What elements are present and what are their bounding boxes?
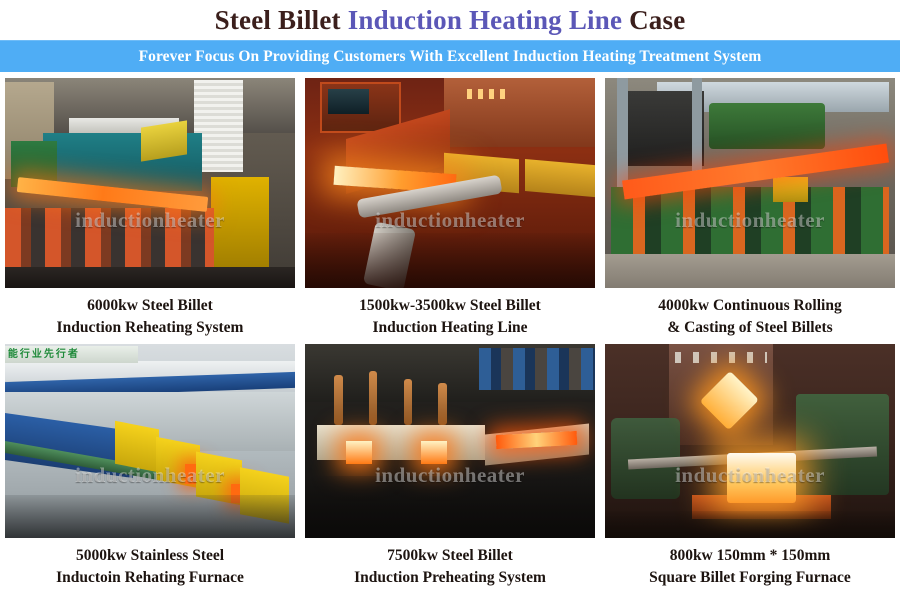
caption-line-1: 800kw 150mm * 150mm	[670, 547, 831, 564]
caption-line-2: Induction Heating Line	[359, 317, 541, 339]
gallery-item-4[interactable]: 能行业先行者 inductionheater 5000kw Stainless …	[0, 340, 300, 600]
caption-line-1: 5000kw Stainless Steel	[76, 547, 224, 564]
case-caption-5: 7500kw Steel Billet Induction Preheating…	[354, 539, 546, 590]
caption-line-1: 7500kw Steel Billet	[387, 547, 513, 564]
photo-scene-reheating-mill	[5, 78, 295, 288]
case-caption-3: 4000kw Continuous Rolling & Casting of S…	[658, 289, 841, 340]
case-caption-1: 6000kw Steel Billet Induction Reheating …	[57, 289, 244, 340]
photo-scene-rolling-casting	[605, 78, 895, 288]
case-photo-3[interactable]: inductionheater	[604, 77, 896, 289]
case-photo-6[interactable]: inductionheater	[604, 343, 896, 539]
gallery-item-5[interactable]: inductionheater 7500kw Steel Billet Indu…	[300, 340, 600, 600]
page-title-bar: Steel Billet Induction Heating Line Case	[0, 0, 900, 40]
caption-line-2: Induction Reheating System	[57, 317, 244, 339]
case-photo-1[interactable]: inductionheater	[4, 77, 296, 289]
case-photo-2[interactable]: inductionheater	[304, 77, 596, 289]
photo-scene-forging-furnace	[605, 344, 895, 538]
caption-line-2: Inductoin Rehating Furnace	[56, 567, 244, 589]
photo-scene-heating-line	[305, 78, 595, 288]
page-title-segment-1: Steel Billet	[215, 5, 348, 35]
photo-scene-preheating-system	[305, 344, 595, 538]
caption-line-1: 1500kw-3500kw Steel Billet	[359, 297, 541, 314]
case-caption-4: 5000kw Stainless Steel Inductoin Rehatin…	[56, 539, 244, 590]
case-caption-6: 800kw 150mm * 150mm Square Billet Forgin…	[649, 539, 851, 590]
photo-scene-stainless-furnace: 能行业先行者	[5, 344, 295, 538]
case-photo-5[interactable]: inductionheater	[304, 343, 596, 539]
tagline-banner: Forever Focus On Providing Customers Wit…	[0, 40, 900, 72]
caption-line-2: & Casting of Steel Billets	[658, 317, 841, 339]
caption-line-2: Induction Preheating System	[354, 567, 546, 589]
poster-page: Steel Billet Induction Heating Line Case…	[0, 0, 900, 600]
page-title-segment-3: Case	[622, 5, 685, 35]
caption-line-1: 4000kw Continuous Rolling	[658, 297, 841, 314]
photo-banner-chinese-text: 能行业先行者	[8, 346, 136, 363]
caption-line-1: 6000kw Steel Billet	[87, 297, 213, 314]
gallery-item-2[interactable]: inductionheater 1500kw-3500kw Steel Bill…	[300, 74, 600, 340]
gallery-item-6[interactable]: inductionheater 800kw 150mm * 150mm Squa…	[600, 340, 900, 600]
gallery-item-3[interactable]: inductionheater 4000kw Continuous Rollin…	[600, 74, 900, 340]
tagline-text: Forever Focus On Providing Customers Wit…	[139, 48, 762, 66]
caption-line-2: Square Billet Forging Furnace	[649, 567, 851, 589]
gallery-item-1[interactable]: inductionheater 6000kw Steel Billet Indu…	[0, 74, 300, 340]
case-photo-4[interactable]: 能行业先行者 inductionheater	[4, 343, 296, 539]
case-gallery-grid: inductionheater 6000kw Steel Billet Indu…	[0, 74, 900, 600]
page-title: Steel Billet Induction Heating Line Case	[215, 5, 686, 36]
page-title-segment-2: Induction Heating Line	[348, 5, 622, 35]
case-caption-2: 1500kw-3500kw Steel Billet Induction Hea…	[359, 289, 541, 340]
